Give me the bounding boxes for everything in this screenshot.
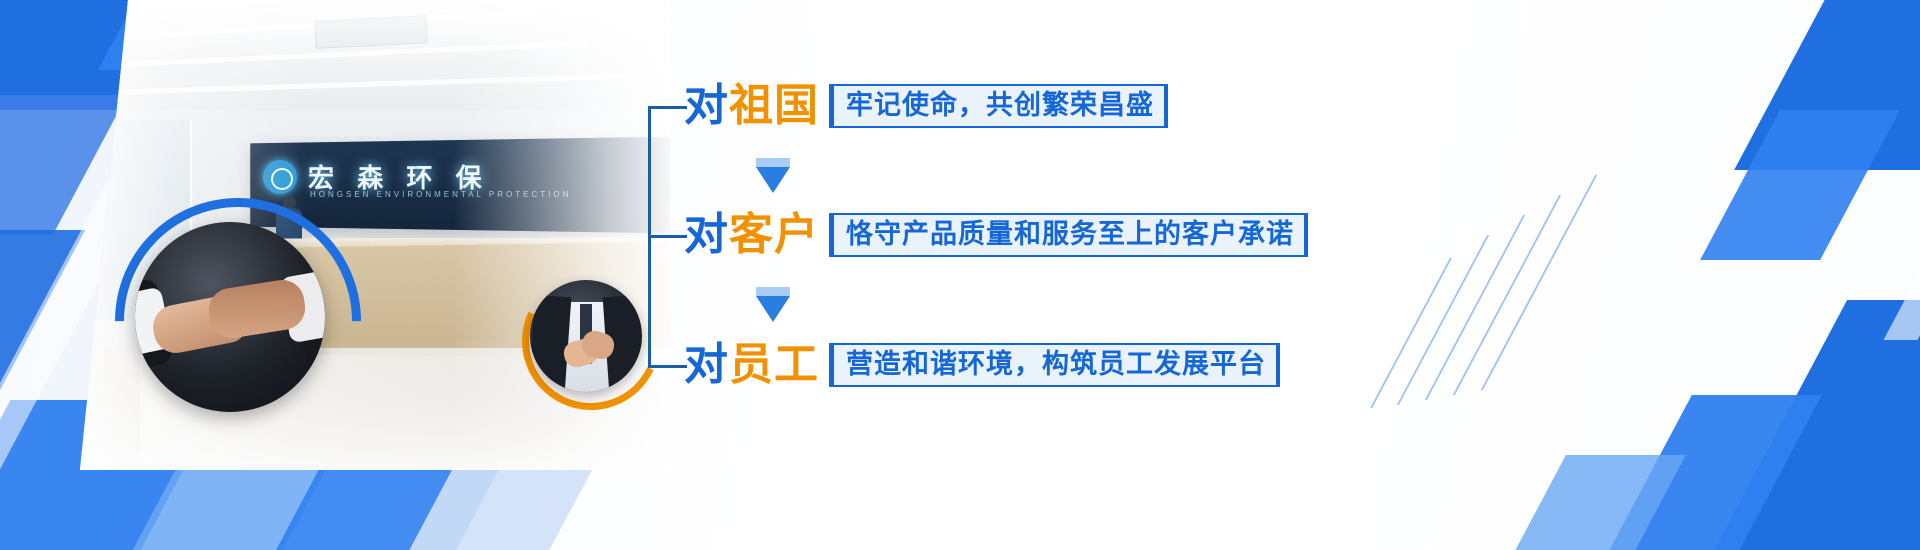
deco-hairline-1 bbox=[1481, 175, 1597, 390]
commitment-row-employee: 对员工 营造和谐环境，构筑员工发展平台 bbox=[684, 339, 1280, 391]
bracket-tick-2 bbox=[651, 235, 687, 238]
commitment-list: 对祖国 牢记使命，共创繁荣昌盛 对客户 恪守产品质量和服务至上的客户承诺 对员工… bbox=[648, 72, 1348, 402]
bracket-tick-3 bbox=[651, 365, 687, 368]
commitment-lead-country: 对祖国 bbox=[684, 84, 819, 128]
deco-parallelogram-right-5 bbox=[1494, 455, 1686, 550]
deco-hairline-3 bbox=[1425, 215, 1525, 400]
meeting-photo-inset bbox=[530, 280, 642, 392]
deco-parallelogram-right-4 bbox=[1588, 395, 1822, 550]
photo-collage: 宏 森 环 保 HONGSEN ENVIRONMENTAL PROTECTION bbox=[30, 0, 670, 550]
bracket-connector bbox=[648, 106, 687, 368]
commitment-phrase-country: 牢记使命，共创繁荣昌盛 bbox=[829, 84, 1168, 128]
deco-hairline-4 bbox=[1397, 235, 1489, 405]
deco-highlight-stripe-right bbox=[1883, 180, 1920, 340]
lead-highlight: 客户 bbox=[729, 209, 819, 260]
promo-banner: 宏 森 环 保 HONGSEN ENVIRONMENTAL PROTECTION bbox=[0, 0, 1920, 550]
commitment-phrase-employee: 营造和谐环境，构筑员工发展平台 bbox=[829, 343, 1280, 387]
down-arrow-icon-2 bbox=[756, 287, 790, 322]
commitment-lead-customer: 对客户 bbox=[684, 213, 819, 257]
arrow-cap bbox=[756, 158, 790, 167]
commitment-row-country: 对祖国 牢记使命，共创繁荣昌盛 bbox=[684, 80, 1168, 132]
commitment-lead-employee: 对员工 bbox=[684, 343, 819, 387]
arrow-triangle bbox=[756, 167, 790, 193]
deco-parallelogram-right-3 bbox=[1693, 300, 1920, 550]
lead-prefix: 对 bbox=[684, 339, 729, 390]
bracket-tick-1 bbox=[651, 106, 687, 109]
commitment-row-customer: 对客户 恪守产品质量和服务至上的客户承诺 bbox=[684, 209, 1308, 261]
commitment-phrase-customer: 恪守产品质量和服务至上的客户承诺 bbox=[829, 213, 1308, 257]
lead-prefix: 对 bbox=[684, 209, 729, 260]
arrow-triangle bbox=[756, 296, 790, 322]
lead-highlight: 员工 bbox=[729, 339, 819, 390]
deco-parallelogram-right-1 bbox=[1734, 0, 1920, 170]
deco-parallelogram-right-2 bbox=[1700, 110, 1900, 260]
handshake-photo-inset bbox=[135, 222, 325, 412]
arrow-cap bbox=[756, 287, 790, 296]
lead-prefix: 对 bbox=[684, 80, 729, 131]
lead-highlight: 祖国 bbox=[729, 80, 819, 131]
deco-hairline-5 bbox=[1370, 258, 1452, 408]
deco-hairline-2 bbox=[1453, 195, 1561, 395]
down-arrow-icon-1 bbox=[756, 158, 790, 193]
meeting-jacket-left bbox=[530, 295, 571, 392]
